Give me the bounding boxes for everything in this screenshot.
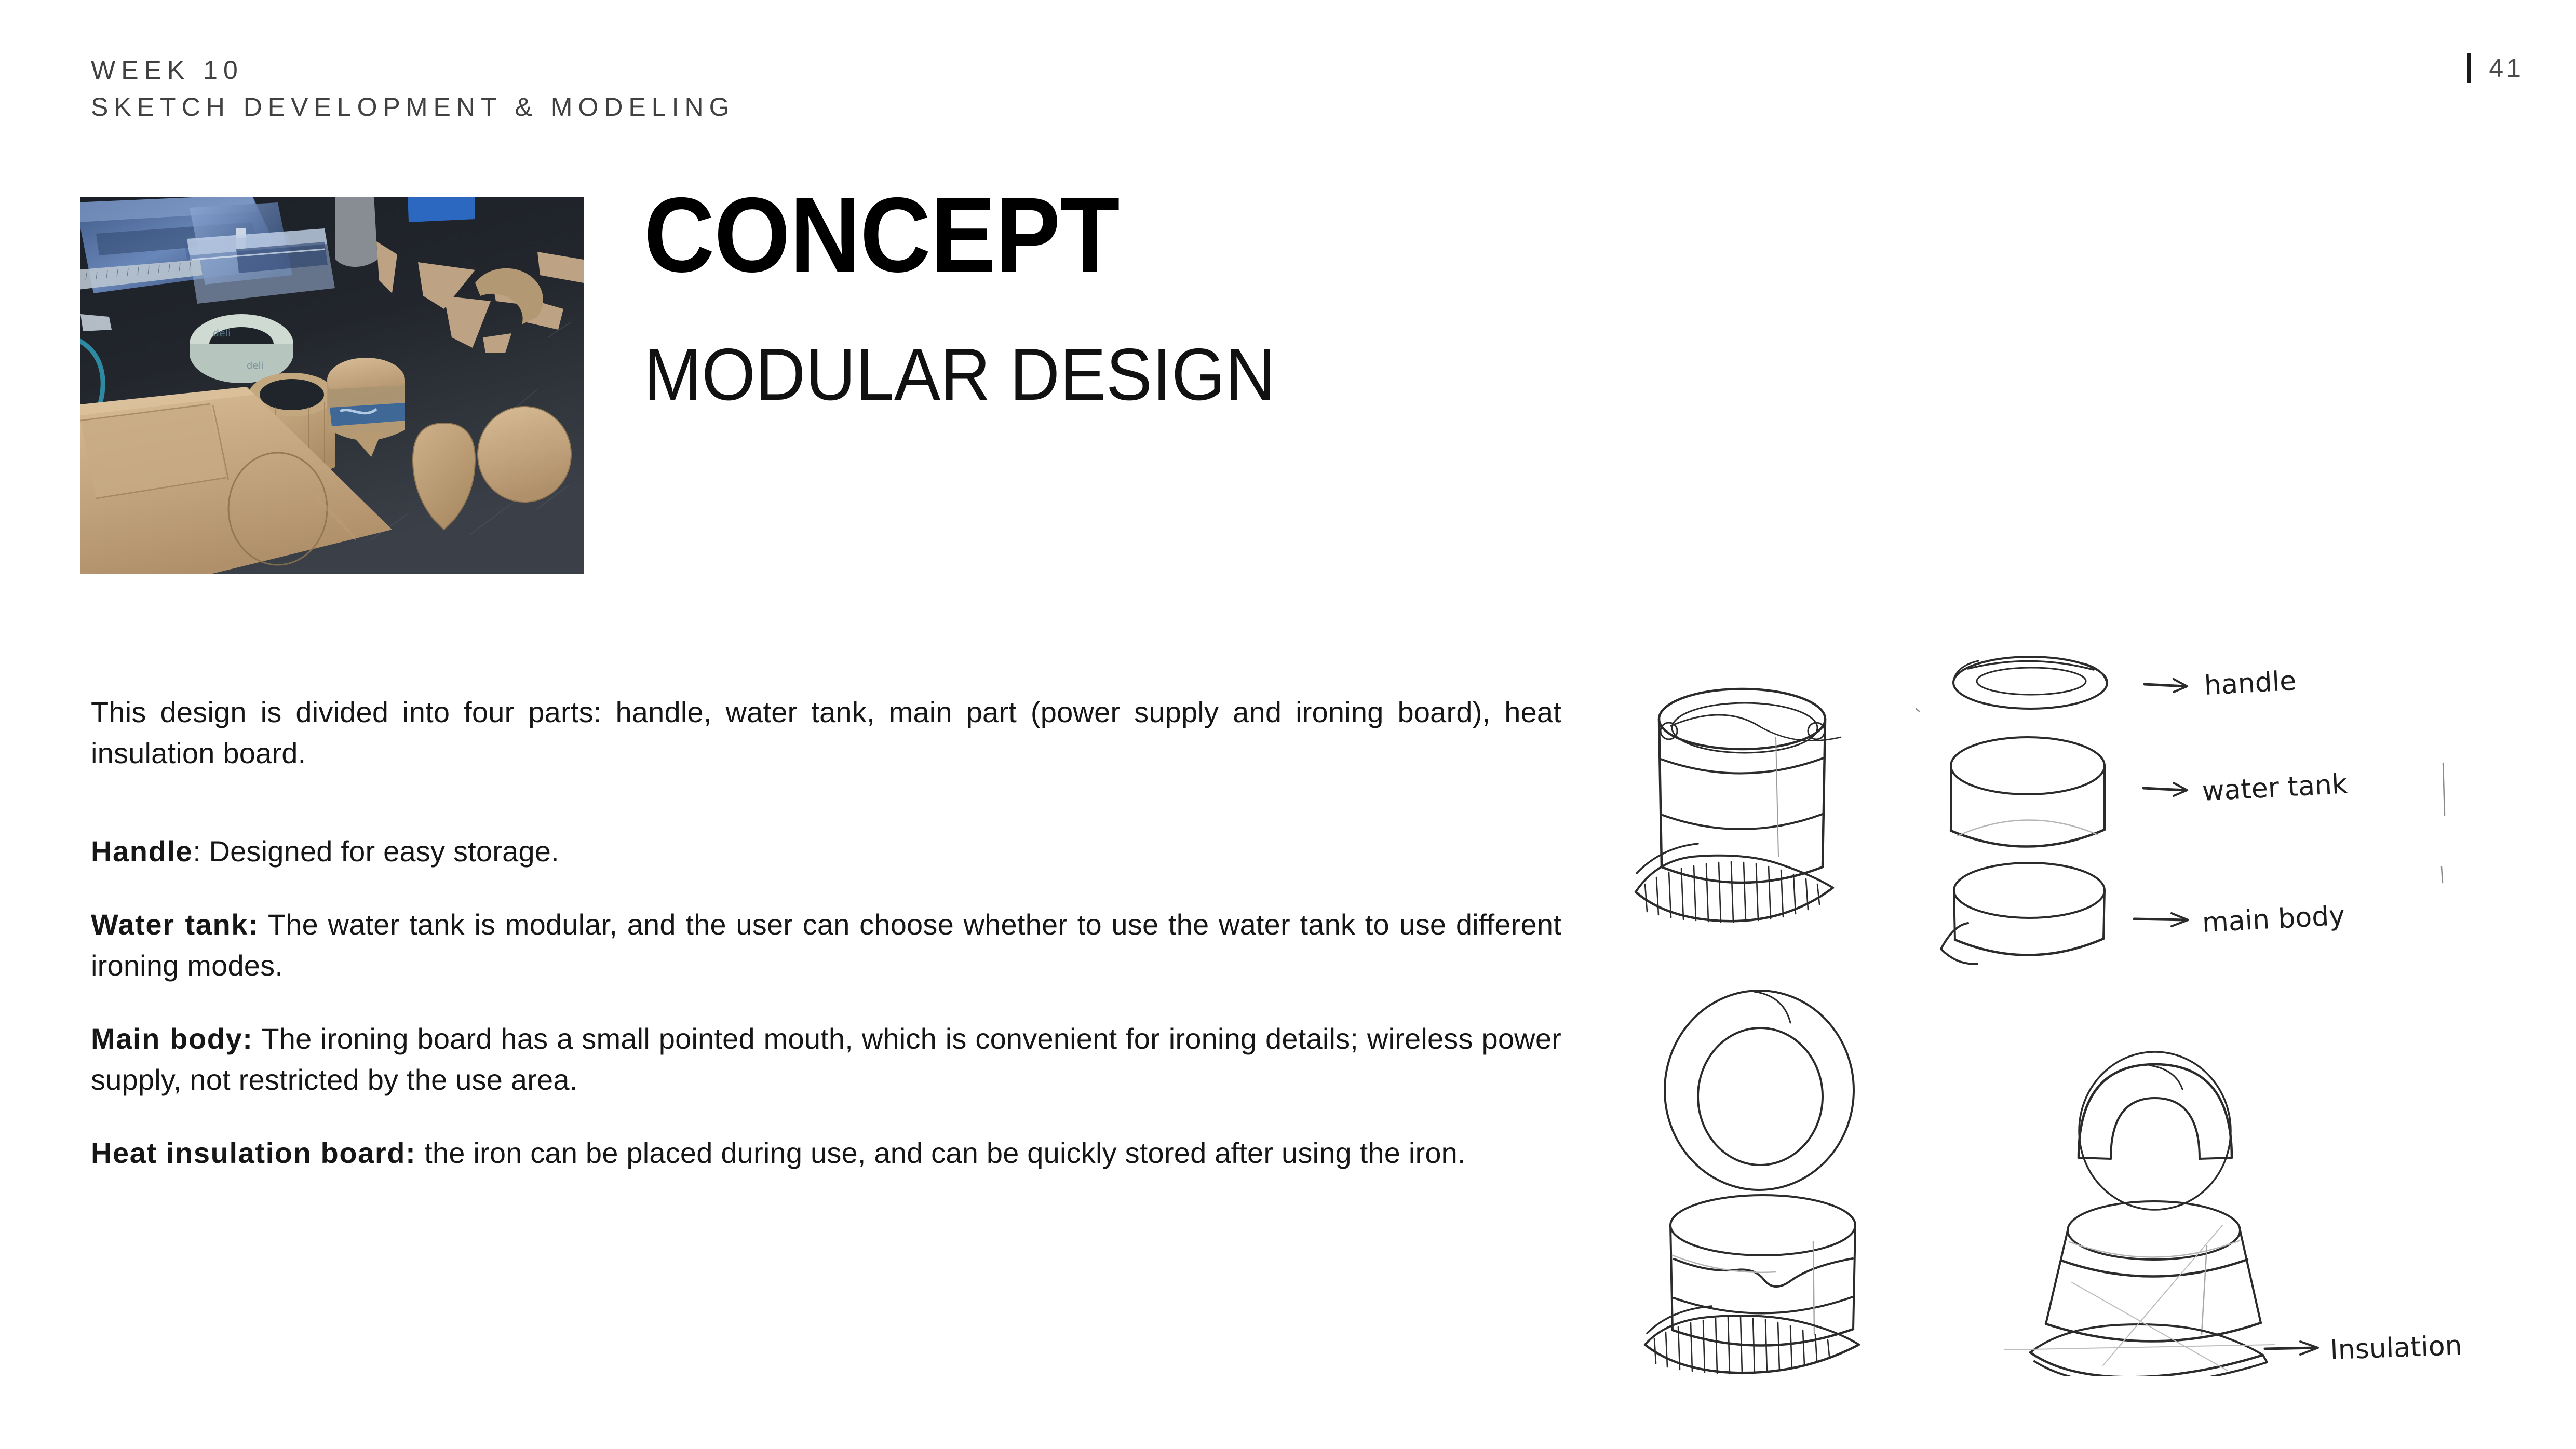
header-line-topic: SKETCH DEVELOPMENT & MODELING [91,89,735,126]
sketch-arrows [2134,679,2188,926]
annotation-insulation: Insulation [2329,1330,2462,1366]
header-line-week: WEEK 10 [91,52,735,89]
label-water-tank: Water tank: [91,908,259,941]
description-column: This design is divided into four parts: … [91,692,1561,1174]
paragraph-handle: Handle: Designed for easy storage. [91,831,1561,872]
intro-paragraph: This design is divided into four parts: … [91,692,1561,774]
sketch-exploded-assembly [2004,1052,2274,1376]
vertical-rule-icon [2467,53,2471,83]
page-number-group: 41 [2467,52,2524,84]
sketch-part-main-body [1941,863,2105,964]
concept-sketch-panel: handle water tank main body Insulation [1604,607,2539,1376]
sketch-part-water-tank [1951,737,2105,847]
mockup-photo-illustration: deli deli [80,197,584,574]
separator-handle: : [193,835,209,868]
title-block: CONCEPT MODULAR DESIGN [644,182,1316,412]
page-title: CONCEPT [644,182,1262,288]
annotation-main-body: main body [2202,900,2346,939]
label-main-body: Main body: [91,1022,253,1055]
sketch-ring-on-body [1645,991,1859,1374]
mockup-photo: deli deli [80,197,584,574]
separator-main-body [253,1022,262,1055]
svg-text:deli: deli [213,328,231,339]
sketch-assembled-device [1636,689,1841,922]
text-main-body: The ironing board has a small pointed mo… [91,1022,1561,1096]
slide-header: WEEK 10 SKETCH DEVELOPMENT & MODELING [91,52,735,126]
page-subtitle: MODULAR DESIGN [644,338,1275,412]
concept-sketch-illustration: handle water tank main body Insulation [1604,607,2539,1376]
label-handle: Handle [91,835,193,868]
annotation-water-tank: water tank [2202,768,2349,807]
svg-text:deli: deli [247,360,264,371]
sketch-part-handle [1953,657,2107,709]
page-number: 41 [2489,53,2524,83]
paragraph-water-tank: Water tank: The water tank is modular, a… [91,904,1561,986]
sketch-arrow-insulation [2265,1342,2318,1355]
label-heat-insulation-board: Heat insulation board: [91,1136,416,1169]
separator-water-tank [259,908,268,941]
separator-heat-insulation-board [416,1136,424,1169]
paragraph-main-body: Main body: The ironing board has a small… [91,1019,1561,1101]
paragraph-heat-insulation-board: Heat insulation board: the iron can be p… [91,1133,1561,1174]
text-handle: Designed for easy storage. [209,835,559,868]
text-heat-insulation-board: the iron can be placed during use, and c… [424,1136,1466,1169]
text-water-tank: The water tank is modular, and the user … [91,908,1561,982]
annotation-handle: handle [2204,666,2297,701]
